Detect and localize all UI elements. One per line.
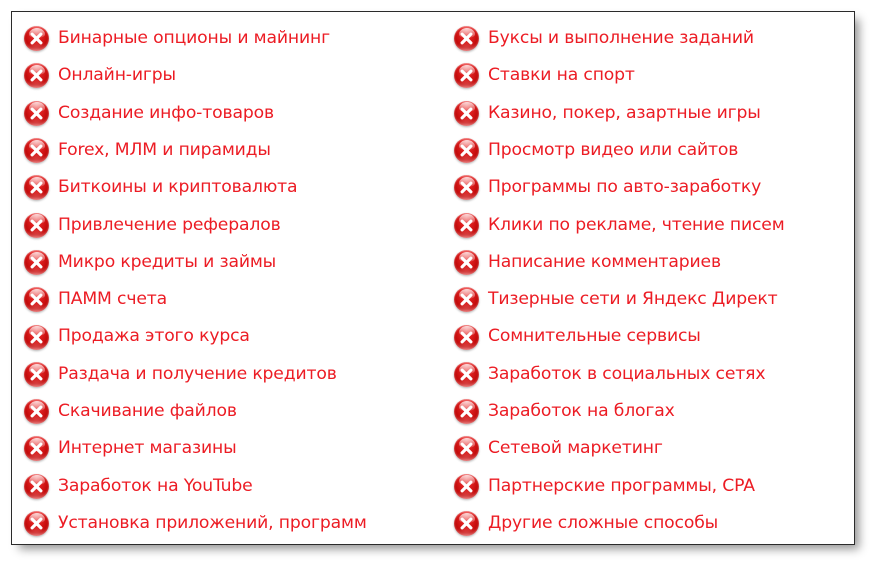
x-mark-icon — [454, 474, 479, 499]
list-item: Forex, МЛМ и пирамиды — [24, 132, 453, 169]
x-mark-icon — [454, 250, 479, 275]
list-item: Партнерские программы, CPA — [454, 468, 854, 505]
list-item: Программы по авто-заработку — [454, 169, 854, 206]
left-column-list: Бинарные опционы и майнингОнлайн-игрыСоз… — [24, 20, 453, 542]
x-mark-icon — [454, 287, 479, 312]
x-mark-icon — [454, 26, 479, 51]
list-item: Буксы и выполнение заданий — [454, 20, 854, 57]
x-mark-icon — [454, 63, 479, 88]
red-x-circle-icon — [454, 287, 479, 312]
red-x-circle-icon — [24, 138, 49, 163]
x-mark-icon — [24, 63, 49, 88]
x-mark-icon — [24, 474, 49, 499]
list-item: Сомнительные сервисы — [454, 318, 854, 355]
x-mark-icon — [454, 101, 479, 126]
red-x-circle-icon — [24, 436, 49, 461]
list-item-label: Интернет магазины — [58, 440, 237, 457]
left-column: Бинарные опционы и майнингОнлайн-игрыСоз… — [12, 12, 453, 544]
x-mark-icon — [24, 362, 49, 387]
red-x-circle-icon — [454, 325, 479, 350]
x-mark-icon — [24, 399, 49, 424]
list-item: Заработок на блогах — [454, 393, 854, 430]
list-item-label: Казино, покер, азартные игры — [488, 105, 761, 122]
list-item: Раздача и получение кредитов — [24, 356, 453, 393]
red-x-circle-icon — [24, 63, 49, 88]
list-item-label: Forex, МЛМ и пирамиды — [58, 142, 271, 159]
x-mark-icon — [24, 26, 49, 51]
red-x-circle-icon — [24, 287, 49, 312]
list-item-label: Раздача и получение кредитов — [58, 366, 337, 383]
list-item-label: Клики по рекламе, чтение писем — [488, 217, 785, 234]
list-item-label: Сетевой маркетинг — [488, 440, 663, 457]
x-mark-icon — [24, 213, 49, 238]
right-column: Буксы и выполнение заданийСтавки на спор… — [453, 12, 854, 544]
list-item-label: Заработок на блогах — [488, 403, 675, 420]
x-mark-icon — [24, 101, 49, 126]
x-mark-icon — [24, 250, 49, 275]
x-mark-icon — [24, 175, 49, 200]
red-x-circle-icon — [454, 175, 479, 200]
list-item-label: ПАММ счета — [58, 291, 167, 308]
red-x-circle-icon — [24, 511, 49, 536]
list-item-label: Микро кредиты и займы — [58, 254, 276, 271]
list-item: Интернет магазины — [24, 430, 453, 467]
x-mark-icon — [454, 213, 479, 238]
list-item: Написание комментариев — [454, 244, 854, 281]
x-mark-icon — [24, 325, 49, 350]
red-x-circle-icon — [454, 436, 479, 461]
x-mark-icon — [454, 436, 479, 461]
list-item: Продажа этого курса — [24, 318, 453, 355]
list-item-label: Онлайн-игры — [58, 67, 176, 84]
list-item: Клики по рекламе, чтение писем — [454, 206, 854, 243]
list-item: Заработок в социальных сетях — [454, 356, 854, 393]
red-x-circle-icon — [454, 213, 479, 238]
list-item-label: Другие сложные способы — [488, 515, 718, 532]
red-x-circle-icon — [454, 362, 479, 387]
list-item: Казино, покер, азартные игры — [454, 95, 854, 132]
two-column-layout: Бинарные опционы и майнингОнлайн-игрыСоз… — [12, 12, 854, 544]
red-x-circle-icon — [24, 474, 49, 499]
red-x-circle-icon — [24, 101, 49, 126]
x-mark-icon — [454, 325, 479, 350]
list-item-label: Партнерские программы, CPA — [488, 478, 755, 495]
red-x-circle-icon — [454, 250, 479, 275]
list-item: Заработок на YouTube — [24, 468, 453, 505]
x-mark-icon — [24, 511, 49, 536]
red-x-circle-icon — [454, 26, 479, 51]
red-x-circle-icon — [24, 399, 49, 424]
exclusion-list-panel: Бинарные опционы и майнингОнлайн-игрыСоз… — [11, 11, 855, 545]
red-x-circle-icon — [24, 175, 49, 200]
list-item-label: Заработок в социальных сетях — [488, 366, 765, 383]
red-x-circle-icon — [454, 138, 479, 163]
list-item-label: Привлечение рефералов — [58, 217, 281, 234]
red-x-circle-icon — [454, 399, 479, 424]
red-x-circle-icon — [24, 250, 49, 275]
list-item-label: Скачивание файлов — [58, 403, 237, 420]
list-item: Установка приложений, программ — [24, 505, 453, 542]
red-x-circle-icon — [24, 362, 49, 387]
red-x-circle-icon — [24, 26, 49, 51]
list-item: Биткоины и криптовалюта — [24, 169, 453, 206]
list-item: Тизерные сети и Яндекс Директ — [454, 281, 854, 318]
red-x-circle-icon — [454, 63, 479, 88]
list-item: ПАММ счета — [24, 281, 453, 318]
x-mark-icon — [454, 399, 479, 424]
red-x-circle-icon — [24, 325, 49, 350]
list-item: Ставки на спорт — [454, 57, 854, 94]
list-item: Создание инфо-товаров — [24, 95, 453, 132]
x-mark-icon — [454, 175, 479, 200]
list-item-label: Биткоины и криптовалюта — [58, 179, 297, 196]
list-item: Микро кредиты и займы — [24, 244, 453, 281]
list-item: Сетевой маркетинг — [454, 430, 854, 467]
red-x-circle-icon — [24, 213, 49, 238]
x-mark-icon — [24, 138, 49, 163]
list-item: Другие сложные способы — [454, 505, 854, 542]
list-item-label: Продажа этого курса — [58, 328, 250, 345]
list-item-label: Программы по авто-заработку — [488, 179, 761, 196]
list-item: Просмотр видео или сайтов — [454, 132, 854, 169]
x-mark-icon — [24, 436, 49, 461]
x-mark-icon — [454, 138, 479, 163]
list-item-label: Написание комментариев — [488, 254, 721, 271]
list-item-label: Установка приложений, программ — [58, 515, 367, 532]
x-mark-icon — [454, 511, 479, 536]
list-item-label: Создание инфо-товаров — [58, 105, 274, 122]
x-mark-icon — [24, 287, 49, 312]
list-item-label: Бинарные опционы и майнинг — [58, 30, 330, 47]
red-x-circle-icon — [454, 474, 479, 499]
list-item-label: Буксы и выполнение заданий — [488, 30, 754, 47]
list-item: Скачивание файлов — [24, 393, 453, 430]
red-x-circle-icon — [454, 511, 479, 536]
list-item: Бинарные опционы и майнинг — [24, 20, 453, 57]
list-item-label: Ставки на спорт — [488, 67, 635, 84]
list-item-label: Сомнительные сервисы — [488, 328, 701, 345]
list-item-label: Тизерные сети и Яндекс Директ — [488, 291, 778, 308]
list-item: Привлечение рефералов — [24, 206, 453, 243]
x-mark-icon — [454, 362, 479, 387]
red-x-circle-icon — [454, 101, 479, 126]
list-item-label: Заработок на YouTube — [58, 478, 253, 495]
list-item-label: Просмотр видео или сайтов — [488, 142, 738, 159]
right-column-list: Буксы и выполнение заданийСтавки на спор… — [454, 20, 854, 542]
list-item: Онлайн-игры — [24, 57, 453, 94]
screenshot-root: Бинарные опционы и майнингОнлайн-игрыСоз… — [0, 0, 870, 563]
